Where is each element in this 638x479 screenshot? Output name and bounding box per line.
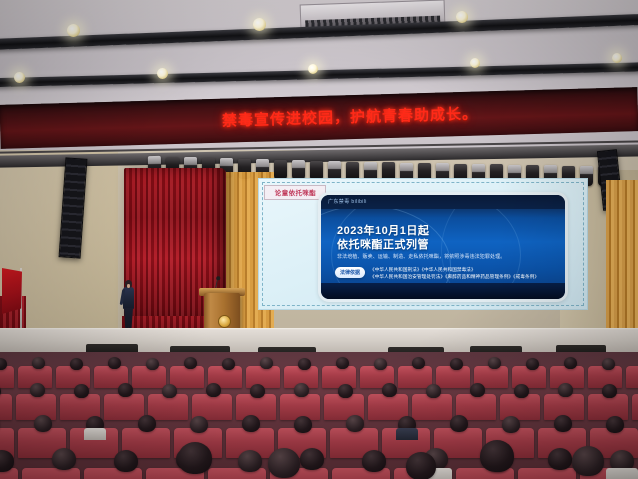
auditorium-photo: 禁毒宣传进校园，护航青春助成长。: [0, 0, 638, 479]
auditorium-seat: [170, 366, 204, 388]
audience-head: [298, 358, 311, 370]
audience-head: [554, 415, 572, 432]
auditorium-seat: [322, 366, 356, 388]
ceiling-spotlight: [470, 58, 480, 68]
audience-head: [470, 383, 485, 397]
legal-reference-list: 《中华人民共和国刑法》《中华人民共和国禁毒法》 《中华人民共和国治安管理处罚法》…: [370, 267, 539, 280]
audience-head: [242, 415, 260, 432]
audience-head: [30, 383, 45, 397]
auditorium-seat: [518, 468, 576, 479]
audience-head: [238, 450, 262, 472]
audience-head: [74, 384, 89, 398]
slide-title-line1: 2023年10月1日起: [337, 225, 429, 239]
audience-head: [260, 357, 273, 369]
auditorium-seat: [626, 366, 638, 388]
audience-head: [34, 415, 52, 432]
auditorium-seat: [22, 468, 80, 479]
slide-logo-text: 广东禁毒 bilibili: [328, 198, 367, 205]
audience-head: [294, 383, 309, 397]
audience-head: [450, 415, 468, 432]
auditorium-seat: [16, 394, 56, 420]
audience-head: [184, 357, 197, 369]
audience-head: [70, 358, 83, 370]
audience-head: [118, 383, 133, 397]
audience-head: [52, 448, 76, 470]
legal-reference-item: 《中华人民共和国刑法》《中华人民共和国禁毒法》: [370, 267, 539, 273]
slide-title: 2023年10月1日起 依托咪酯正式列管: [337, 225, 429, 253]
slide-topbar: 广东禁毒 bilibili: [321, 195, 565, 209]
audience-head: [250, 384, 265, 398]
auditorium-seat: [246, 366, 280, 388]
ceiling-spotlight: [253, 18, 266, 31]
audience-head: [222, 358, 235, 370]
audience-head: [336, 357, 349, 369]
audience-head: [606, 416, 624, 433]
audience-head: [526, 358, 539, 370]
audience-head: [564, 357, 577, 369]
legal-reference-item: 《中华人民共和国治安管理处罚法》《麻醉药品和精神药品管理条例》《戒毒条例》: [370, 274, 539, 280]
audience-head: [450, 358, 463, 370]
audience-head: [138, 415, 156, 432]
audience-head: [346, 415, 364, 432]
slide-footer: [321, 283, 565, 299]
slide-title-line2: 依托咪酯正式列管: [337, 239, 429, 253]
audience-head: [558, 383, 573, 397]
audience-head: [32, 357, 45, 369]
audience-head: [206, 383, 221, 397]
audience-shirt: [606, 468, 638, 479]
audience-head: [514, 384, 529, 398]
screen-badge: 论童依托咪酯: [264, 185, 326, 200]
slide-subtitle: 非法培植、贩卖、运输、制造、走私依托咪酯，将依照涉毒违法犯罪处理。: [337, 253, 505, 260]
audience-head: [362, 450, 386, 472]
audience-shirt: [84, 428, 106, 440]
audience-head: [374, 358, 387, 370]
screen-badge-label: 论童依托咪酯: [274, 188, 315, 197]
audience-head: [502, 416, 520, 433]
auditorium-seat: [398, 366, 432, 388]
audience-head: [488, 357, 501, 369]
ceiling-spotlight: [67, 24, 80, 37]
audience-head: [300, 448, 324, 470]
audience-head: [108, 357, 121, 369]
national-emblem-icon: [218, 315, 231, 328]
audience-head: [114, 450, 138, 472]
audience-head: [548, 448, 572, 470]
audience-seating-area: [0, 352, 638, 479]
stage-par-light: [292, 160, 305, 180]
ceiling-spotlight: [14, 72, 25, 83]
person-face: [127, 284, 131, 288]
slide-device-frame: 广东禁毒 bilibili 2023年10月1日起 依托咪酯正式列管 非法培植、…: [318, 192, 568, 302]
audience-head: [480, 440, 514, 472]
audience-head: [338, 384, 353, 398]
audience-head: [190, 416, 208, 433]
legal-basis-pill: 法律依据: [335, 267, 365, 278]
auditorium-seat: [104, 394, 144, 420]
audience-head: [146, 358, 159, 370]
audience-head: [426, 384, 441, 398]
audience-head: [178, 442, 212, 474]
stage-par-light: [274, 160, 287, 180]
red-flag-icon: [2, 268, 22, 314]
audience-head: [162, 384, 177, 398]
ceiling-spotlight: [612, 53, 622, 63]
audience-head: [294, 416, 312, 433]
ceiling-spotlight: [456, 11, 468, 23]
audience-head: [382, 383, 397, 397]
banner-text: 禁毒宣传进校园，护航青春助成长。: [222, 103, 479, 131]
auditorium-seat: [632, 394, 638, 420]
audience-head: [406, 452, 436, 479]
ceiling-beam: [0, 62, 638, 88]
audience-head: [572, 446, 604, 476]
audience-shirt: [396, 428, 418, 440]
auditorium-seat: [0, 394, 12, 420]
audience-head: [268, 448, 300, 478]
gold-slat-panel-right: [606, 180, 638, 352]
ceiling-spotlight: [308, 64, 318, 74]
audience-head: [412, 357, 425, 369]
presentation-slide: 广东禁毒 bilibili 2023年10月1日起 依托咪酯正式列管 非法培植、…: [321, 195, 565, 299]
audience-head: [602, 384, 617, 398]
audience-head: [602, 358, 615, 370]
slide-legal-basis: 法律依据 《中华人民共和国刑法》《中华人民共和国禁毒法》 《中华人民共和国治安管…: [335, 267, 539, 280]
ceiling-spotlight: [157, 68, 168, 79]
